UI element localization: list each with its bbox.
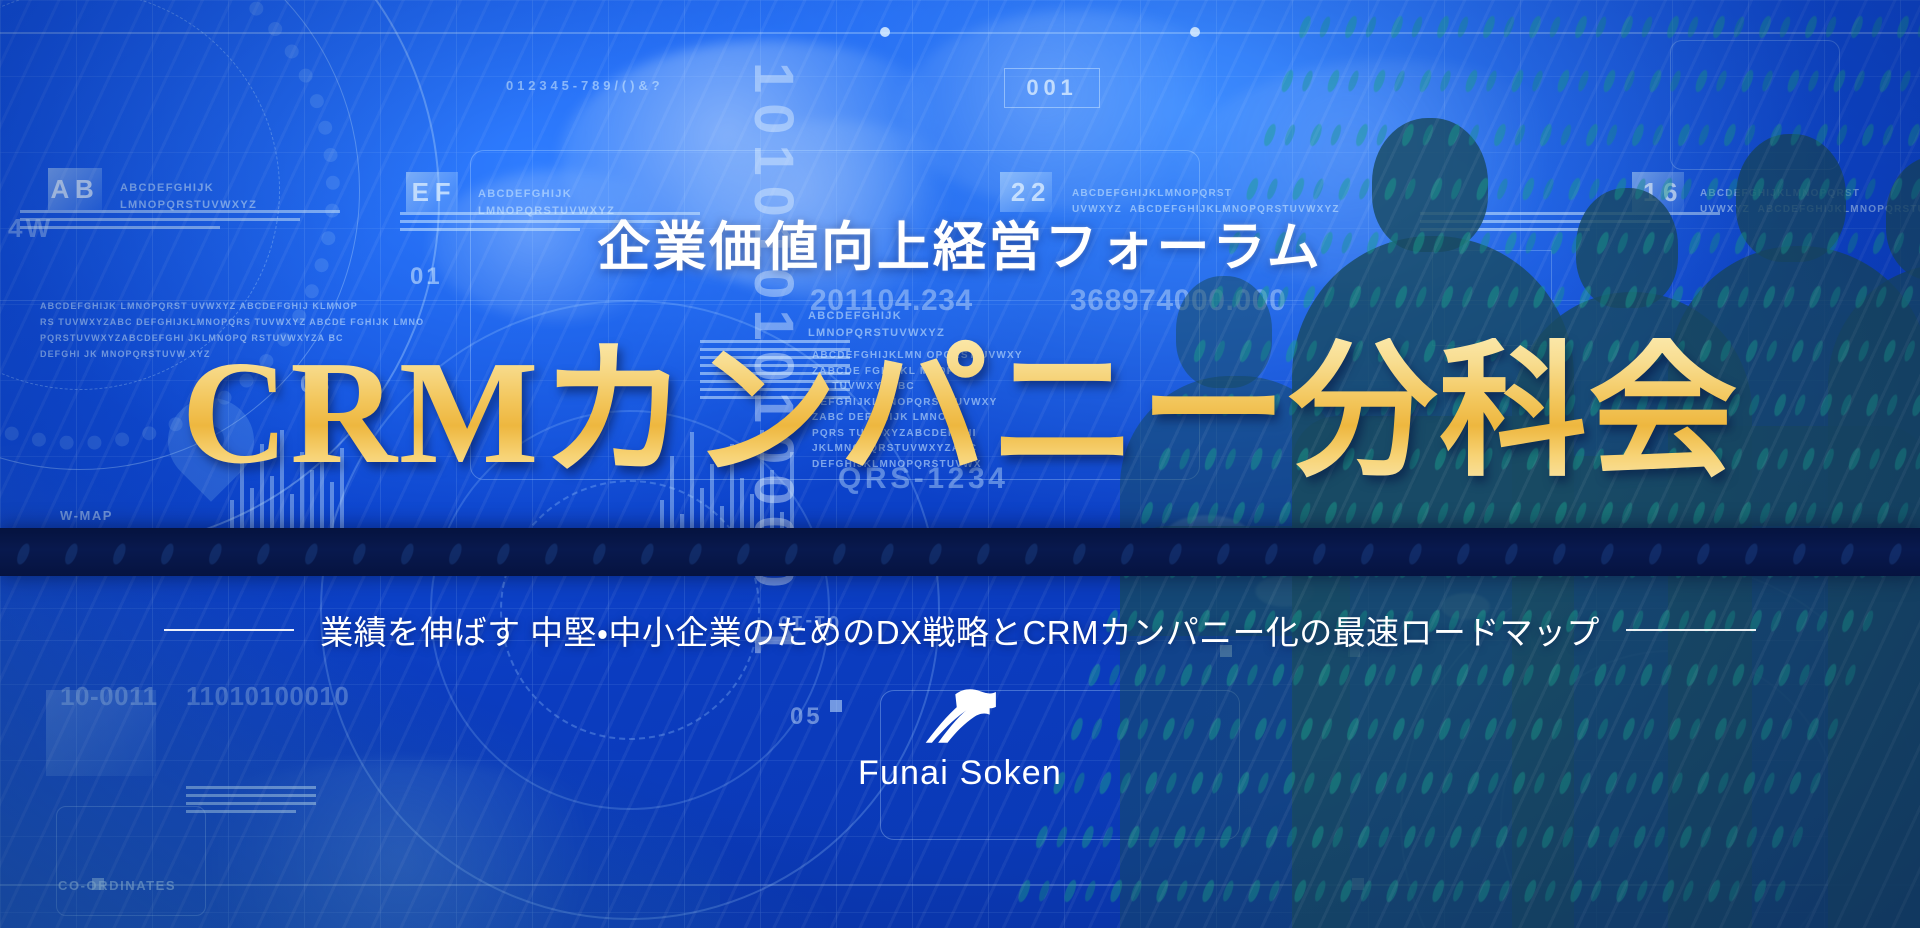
banner-content: 企業価値向上経営フォーラム CRMカンパニー分科会 業績を伸ばす 中堅・中小企業… xyxy=(0,0,1920,928)
funai-soken-logo: Funai Soken xyxy=(0,688,1920,793)
page-title: CRMカンパニー分科会 xyxy=(0,338,1920,489)
forum-eyebrow-title: 企業価値向上経営フォーラム xyxy=(0,205,1920,281)
funai-soken-logo-text: Funai Soken xyxy=(858,754,1062,793)
event-banner: 1010101010000 1 201104.234 368974000.000… xyxy=(0,0,1920,928)
subtitle-row: 業績を伸ばす 中堅・中小企業のためのDX戦略とCRMカンパニー化の最速ロードマッ… xyxy=(0,606,1920,654)
subtitle-text: 業績を伸ばす 中堅・中小企業のためのDX戦略とCRMカンパニー化の最速ロードマッ… xyxy=(320,606,1600,654)
subtitle-rule-right xyxy=(1626,629,1756,631)
funai-soken-wave-mark-icon xyxy=(921,688,999,746)
subtitle-rule-left xyxy=(164,629,294,631)
